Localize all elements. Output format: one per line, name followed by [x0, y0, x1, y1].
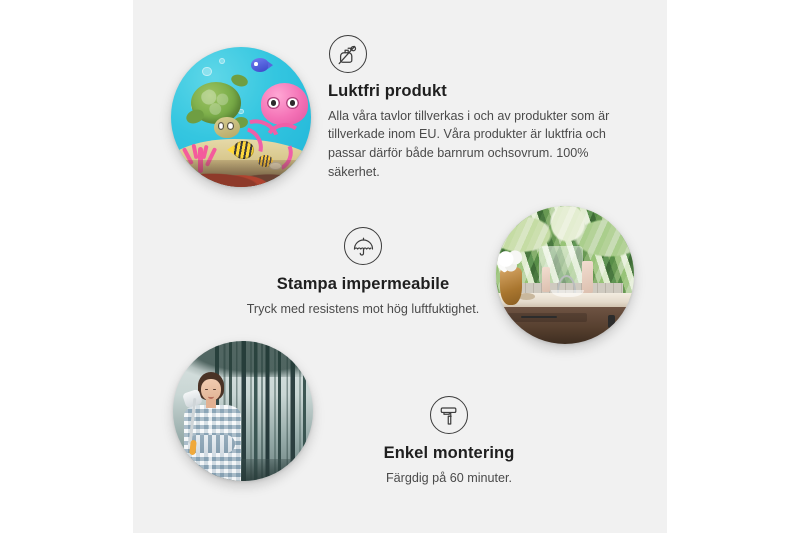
no-fragrance-icon — [329, 35, 367, 73]
feature-odourless: Luktfri produkt Alla våra tavlor tillver… — [328, 35, 628, 181]
umbrella-icon — [344, 227, 382, 265]
feature-waterproof: Stampa impermeabile Tryck med resistens … — [213, 227, 513, 318]
neck — [206, 399, 217, 408]
content-panel: Luktfri produkt Alla våra tavlor tillver… — [133, 0, 667, 533]
feature-description: Alla våra tavlor tillverkas i och av pro… — [328, 107, 628, 182]
octopus-eye — [286, 97, 298, 110]
underwater-artwork — [171, 47, 311, 187]
cabinet-handle — [608, 315, 615, 328]
wooden-vanity-cabinet — [496, 307, 634, 344]
toiletry-bottle — [582, 261, 593, 293]
forest-artwork — [173, 341, 313, 481]
feature-description: Färgdig på 60 minuter. — [325, 469, 573, 488]
feature-title: Luktfri produkt — [328, 82, 628, 102]
feature-mounting: Enkel montering Färgdig på 60 minuter. — [325, 396, 573, 487]
feature-title: Enkel montering — [325, 444, 573, 464]
bathroom-interior-circle — [496, 206, 634, 344]
bathroom-artwork — [496, 206, 634, 344]
woman-decorator — [181, 372, 248, 481]
octopus-head — [261, 83, 309, 125]
feature-description: Tryck med resistens mot hög luftfuktighe… — [213, 300, 513, 319]
underwater-scene-circle — [171, 47, 311, 187]
paint-roller-icon — [430, 396, 468, 434]
drawer-handle — [521, 316, 557, 318]
bubble-icon — [202, 67, 212, 77]
yellow-striped-fish-icon — [233, 141, 254, 159]
page-root: Luktfri produkt Alla våra tavlor tillver… — [0, 0, 800, 533]
octopus-eye — [267, 97, 279, 110]
feature-title: Stampa impermeabile — [213, 275, 513, 295]
toiletry-bottle — [542, 267, 550, 292]
decorator-forest-circle — [173, 341, 313, 481]
sea-rocks — [185, 160, 305, 187]
